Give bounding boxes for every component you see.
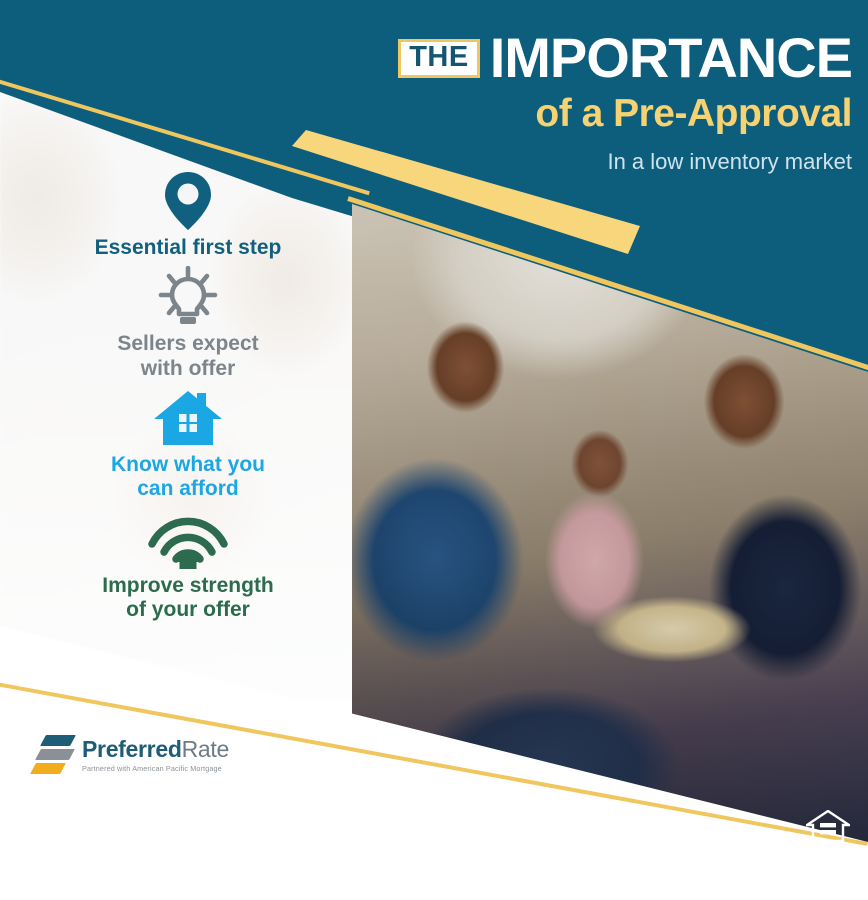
lightbulb-icon bbox=[16, 266, 360, 328]
feature-label: Improve strength of your offer bbox=[16, 574, 360, 623]
the-badge: THE bbox=[398, 39, 480, 78]
preferred-rate-logo-text: PreferredRate Partnered with American Pa… bbox=[82, 738, 229, 773]
feature-list: Essential first step bbox=[16, 170, 360, 629]
feature-label: Sellers expect with offer bbox=[16, 332, 360, 381]
feature-label: Know what you can afford bbox=[16, 453, 360, 502]
title-line-one: THE IMPORTANCE bbox=[300, 30, 852, 86]
logo-name-light: Rate bbox=[182, 736, 229, 762]
preferred-rate-logo-mark bbox=[33, 733, 75, 777]
logo-bar-gold bbox=[30, 763, 66, 774]
logo-name-bold: Preferred bbox=[82, 736, 182, 762]
equal-housing-house-icon bbox=[806, 810, 850, 842]
house-icon bbox=[16, 387, 360, 449]
feature-label: Essential first step bbox=[16, 236, 360, 260]
page-tagline: In a low inventory market bbox=[300, 149, 852, 175]
location-pin-icon bbox=[16, 170, 360, 232]
equal-housing-label: EQUAL HOUSING OPPORTUNITY bbox=[800, 843, 856, 856]
preferred-rate-logo: PreferredRate Partnered with American Pa… bbox=[33, 733, 229, 777]
logo-tagline: Partnered with American Pacific Mortgage bbox=[82, 764, 229, 773]
page-subtitle: of a Pre-Approval bbox=[300, 92, 852, 137]
logo-wordmark: PreferredRate bbox=[82, 738, 229, 761]
logo-bar-gray bbox=[35, 749, 75, 760]
logo-bar-blue bbox=[40, 735, 76, 746]
feature-item: Know what you can afford bbox=[16, 387, 360, 502]
feature-item: Sellers expect with offer bbox=[16, 266, 360, 381]
marketing-flyer: THE IMPORTANCE of a Pre-Approval In a lo… bbox=[0, 0, 868, 900]
page-title: IMPORTANCE bbox=[490, 30, 852, 86]
wifi-signal-house-icon bbox=[16, 508, 360, 570]
feature-item: Improve strength of your offer bbox=[16, 508, 360, 623]
equal-housing-opportunity-logo: EQUAL HOUSING OPPORTUNITY bbox=[800, 810, 856, 856]
header-text-block: THE IMPORTANCE of a Pre-Approval In a lo… bbox=[300, 30, 852, 175]
feature-item: Essential first step bbox=[16, 170, 360, 260]
